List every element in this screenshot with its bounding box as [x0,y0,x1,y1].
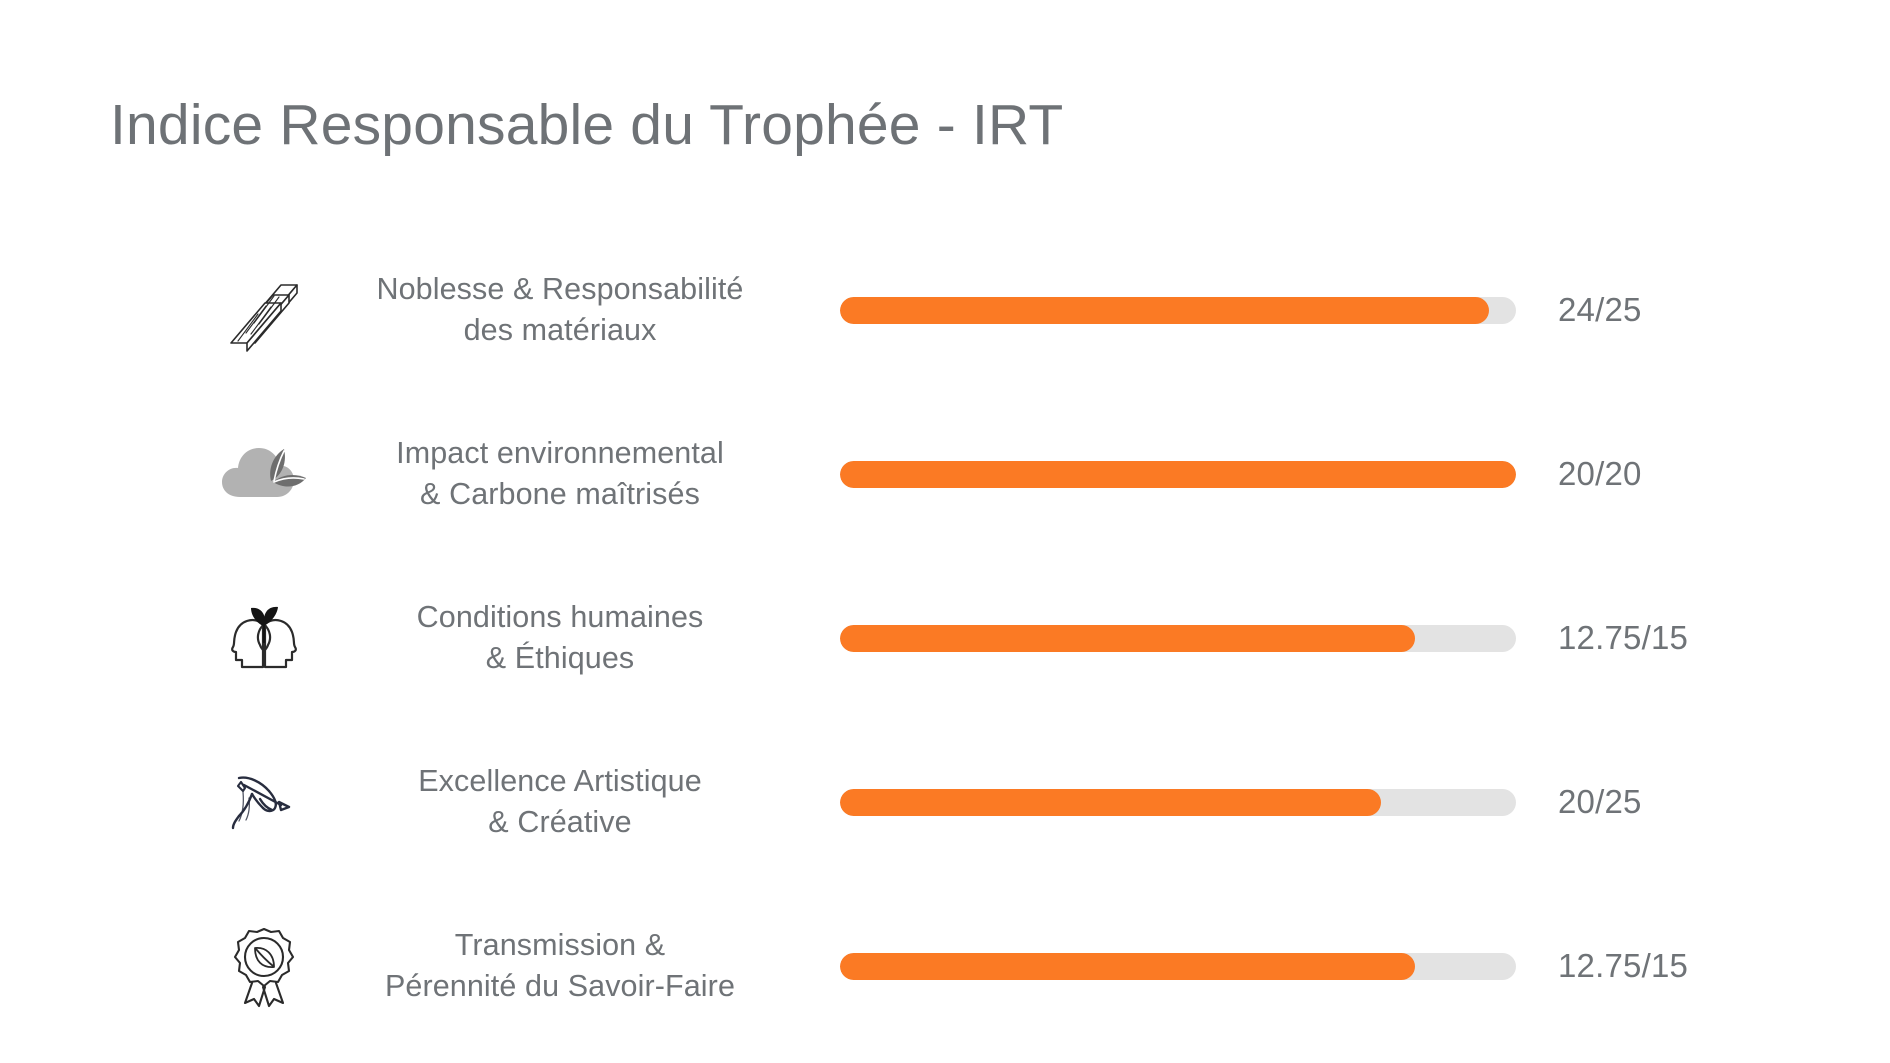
progress-track [840,461,1516,488]
criterion-progress [840,556,1516,720]
criterion-label: Conditions humaines & Éthiques [300,556,820,720]
criterion-progress [840,228,1516,392]
criterion-label-line1: Conditions humaines [417,597,704,638]
criterion-row: Excellence Artistique & Créative 20/25 [0,720,1890,884]
criterion-row: Conditions humaines & Éthiques 12.75/15 [0,556,1890,720]
progress-fill [840,461,1516,488]
criteria-list: Noblesse & Responsabilité des matériaux … [0,228,1890,1048]
criterion-progress [840,884,1516,1048]
progress-fill [840,625,1415,652]
criterion-score: 12.75/15 [1558,884,1798,1048]
criterion-progress [840,720,1516,884]
criterion-row: Noblesse & Responsabilité des matériaux … [0,228,1890,392]
progress-track [840,953,1516,980]
criterion-label-line2: & Carbone maîtrisés [420,474,700,515]
irt-score-panel: Indice Responsable du Trophée - IRT [0,0,1890,1063]
progress-track [840,297,1516,324]
progress-fill [840,297,1489,324]
criterion-label-line2: des matériaux [464,310,657,351]
criterion-progress [840,392,1516,556]
criterion-score: 20/20 [1558,392,1798,556]
progress-fill [840,953,1415,980]
criterion-score: 12.75/15 [1558,556,1798,720]
criterion-label: Impact environnemental & Carbone maîtris… [300,392,820,556]
criterion-label-line1: Excellence Artistique [418,761,702,802]
criterion-label-line1: Noblesse & Responsabilité [376,269,743,310]
progress-track [840,625,1516,652]
criterion-label-line2: & Éthiques [486,638,635,679]
criterion-label-line2: & Créative [488,802,631,843]
criterion-label-line2: Pérennité du Savoir-Faire [385,966,735,1007]
criterion-label-line1: Transmission & [455,925,665,966]
criterion-label-line1: Impact environnemental [396,433,724,474]
criterion-label: Excellence Artistique & Créative [300,720,820,884]
criterion-label: Noblesse & Responsabilité des matériaux [300,228,820,392]
criterion-score: 20/25 [1558,720,1798,884]
progress-fill [840,789,1381,816]
criterion-score: 24/25 [1558,228,1798,392]
page-title: Indice Responsable du Trophée - IRT [110,94,1063,157]
criterion-label: Transmission & Pérennité du Savoir-Faire [300,884,820,1048]
progress-track [840,789,1516,816]
criterion-row: Transmission & Pérennité du Savoir-Faire… [0,884,1890,1048]
criterion-row: Impact environnemental & Carbone maîtris… [0,392,1890,556]
